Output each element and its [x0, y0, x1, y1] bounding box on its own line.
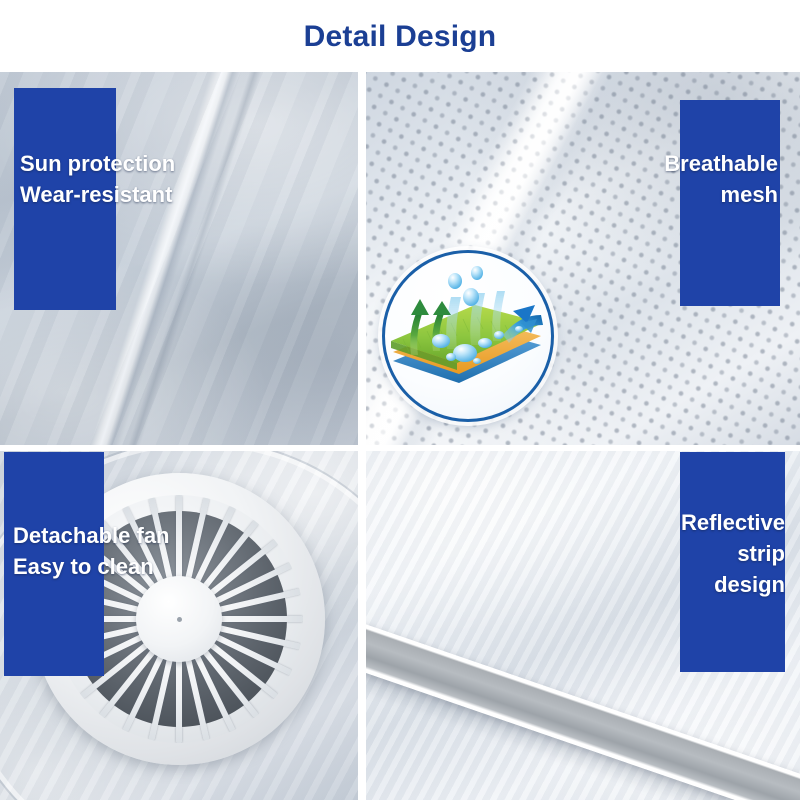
label-line-3: design [575, 569, 785, 600]
label-text-sun-protection: Sun protection Wear-resistant [20, 148, 175, 210]
label-text-detachable-fan: Detachable fan Easy to clean [13, 520, 170, 582]
label-line-1: Breathable [578, 148, 778, 179]
label-line-1: Reflective [575, 507, 785, 538]
infographic-page: Detail Design [0, 0, 800, 800]
label-line-2: Wear-resistant [20, 179, 175, 210]
label-line-2: Easy to clean [13, 551, 170, 582]
label-line-1: Sun protection [20, 148, 175, 179]
page-title: Detail Design [0, 20, 800, 54]
label-line-2: strip [575, 538, 785, 569]
label-line-2: mesh [578, 179, 778, 210]
label-text-breathable-mesh: Breathable mesh [578, 148, 778, 210]
fan-hub-screw-icon [177, 617, 182, 622]
label-line-1: Detachable fan [13, 520, 170, 551]
breathability-diagram-inset [382, 250, 554, 422]
fan-hub [136, 576, 222, 662]
label-text-reflective-strip: Reflective strip design [575, 507, 785, 600]
